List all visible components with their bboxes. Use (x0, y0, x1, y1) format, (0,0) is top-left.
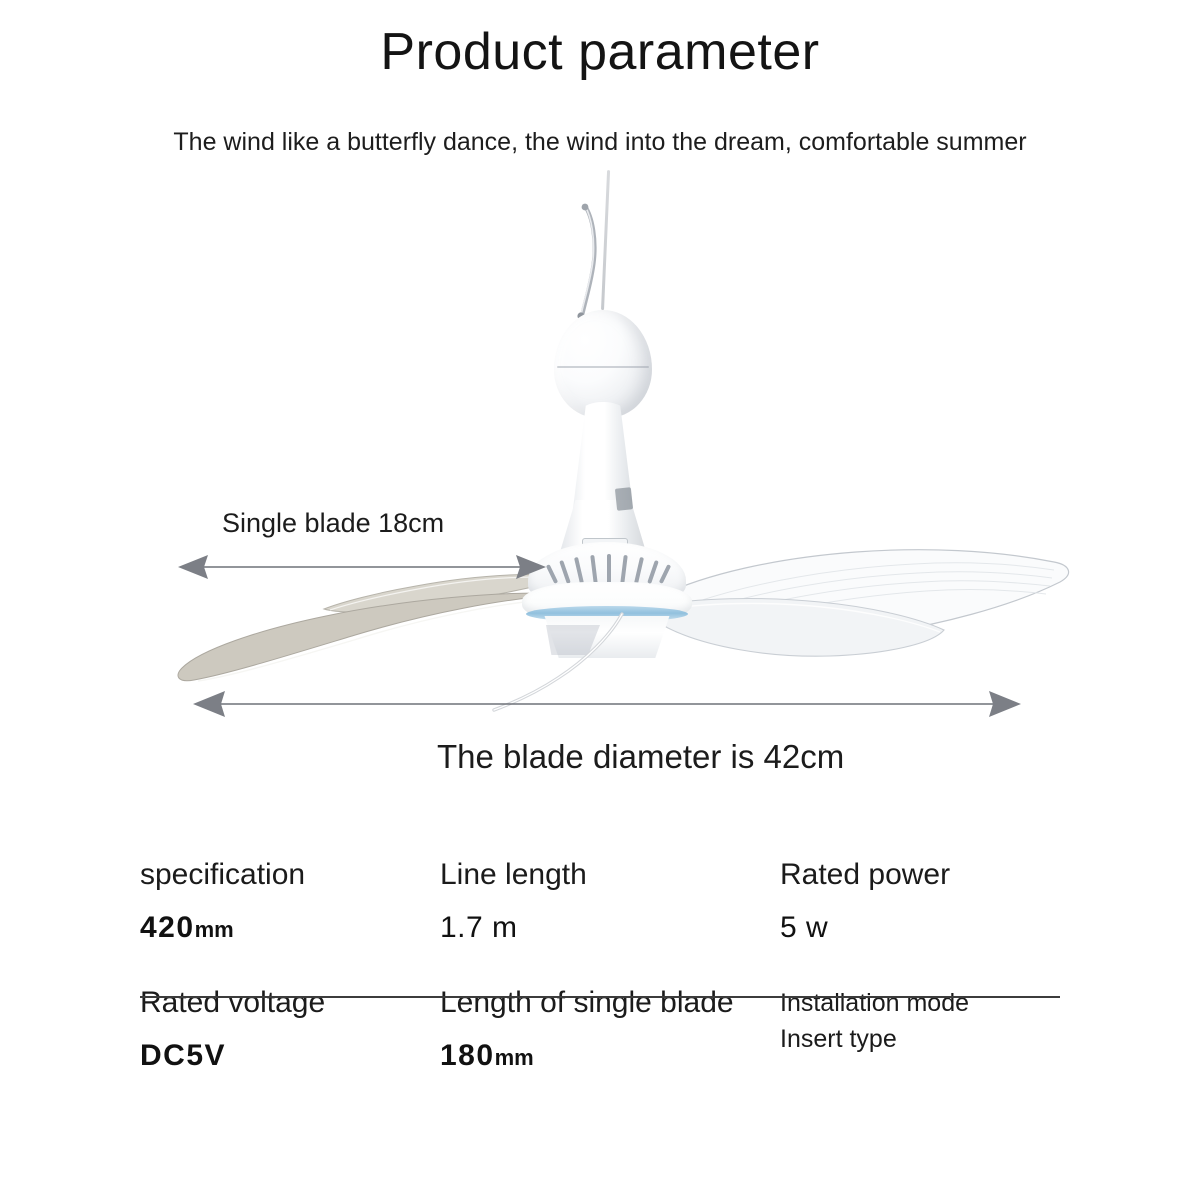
spec-value-number: 5 w (780, 911, 828, 944)
spec-key: Rated power (780, 858, 1060, 891)
spec-cell-single-blade-length: Length of single blade 180mm (440, 986, 780, 1126)
product-photo (150, 170, 1080, 710)
motor-switch[interactable] (615, 487, 633, 511)
vent-slot (546, 564, 558, 584)
specification-table: specification 420mm Line length 1.7 m Ra… (140, 858, 1060, 1126)
spec-value: 420mm (140, 911, 440, 945)
spec-key: Rated voltage (140, 986, 440, 1019)
spec-cell-specification: specification 420mm (140, 858, 440, 986)
spec-value: 1.7 m (440, 911, 780, 945)
spec-key: Length of single blade (440, 986, 780, 1019)
spec-value: 180mm (440, 1039, 780, 1073)
page-title: Product parameter (0, 22, 1200, 82)
spec-value: DC5V (140, 1039, 440, 1073)
vent-slot (659, 564, 671, 584)
spec-value-number: DC5V (140, 1039, 226, 1072)
table-row: Rated voltage DC5V Length of single blad… (140, 986, 1060, 1126)
single-blade-dimension-label: Single blade 18cm (222, 508, 444, 539)
spec-value-number: 180 (440, 1039, 495, 1072)
motor-housing-bulb (554, 310, 652, 418)
spec-key: Line length (440, 858, 780, 891)
vent-slot (559, 560, 571, 584)
vent-slot (607, 554, 611, 584)
table-row: specification 420mm Line length 1.7 m Ra… (140, 858, 1060, 986)
blade-diameter-dimension-arrow (193, 688, 1021, 720)
spec-value: 5 w (780, 911, 1060, 945)
product-parameter-page: Product parameter The wind like a butter… (0, 0, 1200, 1200)
spec-value-unit: mm (195, 917, 234, 942)
metal-hook-icon (568, 202, 604, 322)
table-divider (140, 996, 1060, 998)
vent-slot (634, 557, 644, 584)
vent-slot (574, 557, 584, 584)
spec-value-unit: mm (495, 1045, 534, 1070)
spec-cell-line-length: Line length 1.7 m (440, 858, 780, 986)
spec-value-number: 1.7 m (440, 911, 518, 944)
page-subtitle: The wind like a butterfly dance, the win… (0, 128, 1200, 157)
blade-diameter-dimension-label: The blade diameter is 42cm (437, 738, 844, 776)
single-blade-dimension-arrow (178, 552, 546, 582)
blade-right-lower (650, 588, 950, 680)
spec-cell-installation-mode: Installation mode Insert type (780, 986, 1060, 1126)
spec-cell-rated-voltage: Rated voltage DC5V (140, 986, 440, 1126)
vent-slot (620, 555, 628, 584)
vent-slot (647, 560, 659, 584)
spec-key: specification (140, 858, 440, 891)
vent-slot (590, 555, 598, 584)
spec-cell-rated-power: Rated power 5 w (780, 858, 1060, 986)
spec-value-number: 420 (140, 911, 195, 944)
motor-housing-seam (557, 366, 649, 368)
